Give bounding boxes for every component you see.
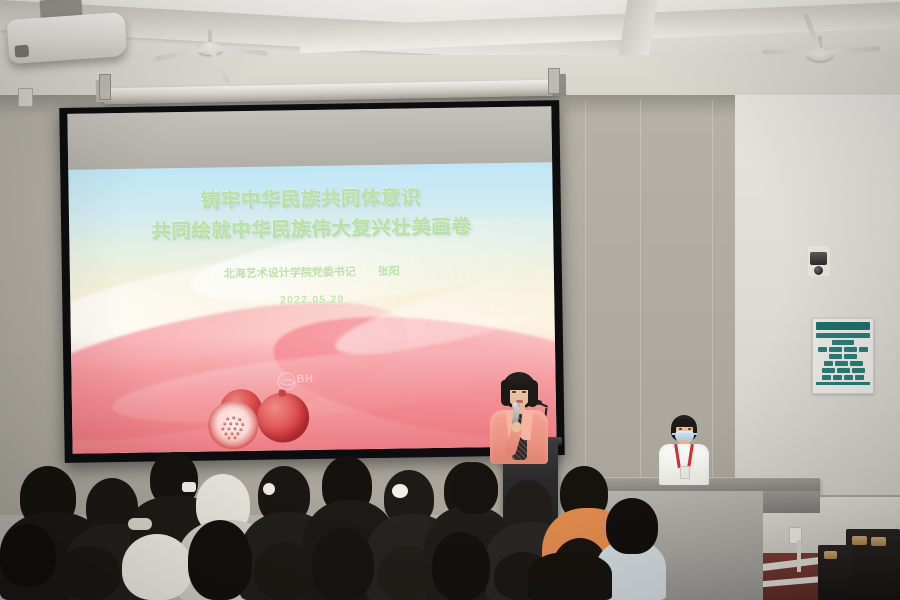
seat-armrest (871, 537, 886, 546)
audience-head (58, 546, 120, 600)
slide-bottom-gradient (71, 333, 557, 454)
logo-ring-icon (277, 372, 295, 390)
wall-pipe (797, 540, 801, 572)
camera-lens-icon (814, 266, 823, 275)
notice-row (816, 340, 870, 345)
hair-clip (182, 482, 196, 492)
fan-blade (210, 45, 268, 56)
audience-head (188, 520, 252, 600)
slide-watermark-logo: BH (277, 372, 331, 389)
notice-title-bar (816, 322, 870, 330)
hair-clip (263, 483, 275, 495)
wall-right (735, 95, 900, 495)
front-desk-side (763, 491, 820, 513)
seat-armrest (824, 551, 837, 559)
notice-bar (816, 333, 870, 338)
audience-head (606, 498, 658, 554)
audience-head (312, 528, 374, 600)
presenter-hair-side (528, 380, 538, 407)
audience-head (432, 532, 490, 600)
hair-band (128, 518, 152, 530)
wall-seam (640, 100, 641, 490)
presenter-eye (522, 391, 526, 393)
logo-text: BH (296, 373, 313, 385)
hair-clip (392, 484, 408, 498)
fan-blade (762, 49, 820, 56)
notice-row (816, 347, 870, 352)
projector-lens-icon (14, 45, 29, 58)
mask-strap (672, 433, 676, 435)
audience-head (378, 546, 436, 600)
audience-head (0, 524, 56, 586)
security-camera (810, 252, 827, 265)
slide-title-line-2: 共同绘就中华民族伟大复兴壮美画卷 (69, 214, 553, 245)
notice-footer-bar (816, 382, 870, 385)
wall-switch-box (18, 88, 33, 107)
presentation-slide: BH 铸牢中华民族共同体意识 共同绘就中华民族伟大复兴壮美画卷 北海艺术设计学院… (68, 162, 556, 454)
notice-row (816, 368, 870, 373)
ceiling-projector (7, 12, 128, 64)
mask-strap (693, 433, 697, 435)
seat-armrest (852, 536, 867, 545)
audience-head (122, 534, 192, 600)
slide-subtitle: 北海艺术设计学院党委书记 张阳 (70, 260, 554, 284)
presenter (488, 372, 550, 464)
slide-text-block: 铸牢中华民族共同体意识 共同绘就中华民族伟大复兴壮美画卷 北海艺术设计学院党委书… (69, 184, 555, 309)
clerk-eye (679, 428, 682, 430)
audience-head (254, 542, 314, 600)
roller-bracket (548, 68, 560, 94)
clerk-bangs (673, 419, 696, 427)
seated-staff-member (655, 415, 713, 485)
wall-seam (585, 100, 586, 470)
pomegranate-stem (279, 389, 286, 396)
wall-notice-board (812, 318, 874, 394)
screen-top-band (67, 106, 552, 170)
clerk-eye (688, 428, 691, 430)
fan-blade (820, 46, 880, 56)
id-badge (680, 466, 690, 479)
presenter-hair-side (501, 380, 510, 406)
notice-row (816, 375, 870, 380)
ceiling-fan (150, 30, 270, 64)
audience-shoulders (528, 552, 612, 600)
notice-row (816, 354, 870, 359)
ceiling-fan (760, 36, 880, 70)
roller-bracket (99, 74, 111, 100)
lecture-hall-photo: BH 铸牢中华民族共同体意识 共同绘就中华民族伟大复兴壮美画卷 北海艺术设计学院… (0, 0, 900, 600)
presenter-eye (512, 391, 516, 393)
slide-title-line-1: 铸牢中华民族共同体意识 (69, 184, 553, 215)
audience-head (452, 462, 498, 514)
screen-surface: BH 铸牢中华民族共同体意识 共同绘就中华民族伟大复兴壮美画卷 北海艺术设计学院… (67, 106, 556, 454)
notice-row (816, 361, 870, 366)
